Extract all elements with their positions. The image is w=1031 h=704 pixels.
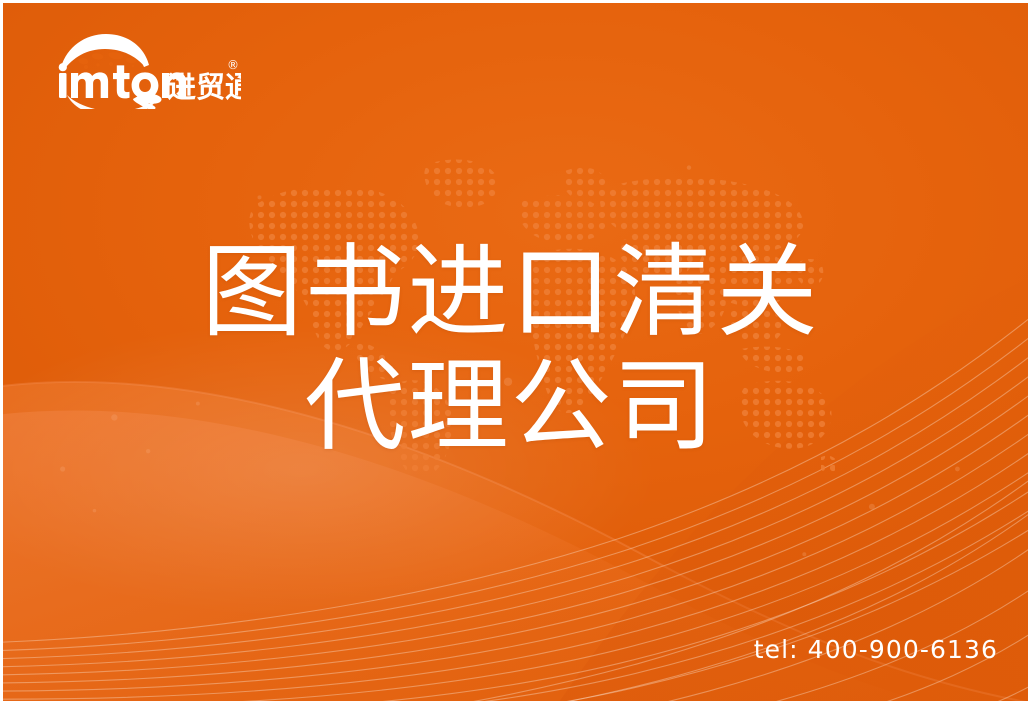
contact-phone[interactable]: tel: 400-900-6136 bbox=[754, 635, 998, 664]
globe-icon bbox=[61, 34, 149, 71]
logo-chinese-name: 进贸通 bbox=[167, 70, 241, 104]
dotted-world-map bbox=[235, 145, 835, 475]
poster-canvas: 进贸通 ® 图书进口清关 代理公司 tel: 400-900-6136 bbox=[0, 0, 1031, 704]
swoosh-icon bbox=[67, 94, 162, 109]
brand-logo[interactable]: 进贸通 ® bbox=[41, 27, 241, 109]
registered-trademark-icon: ® bbox=[227, 58, 239, 72]
